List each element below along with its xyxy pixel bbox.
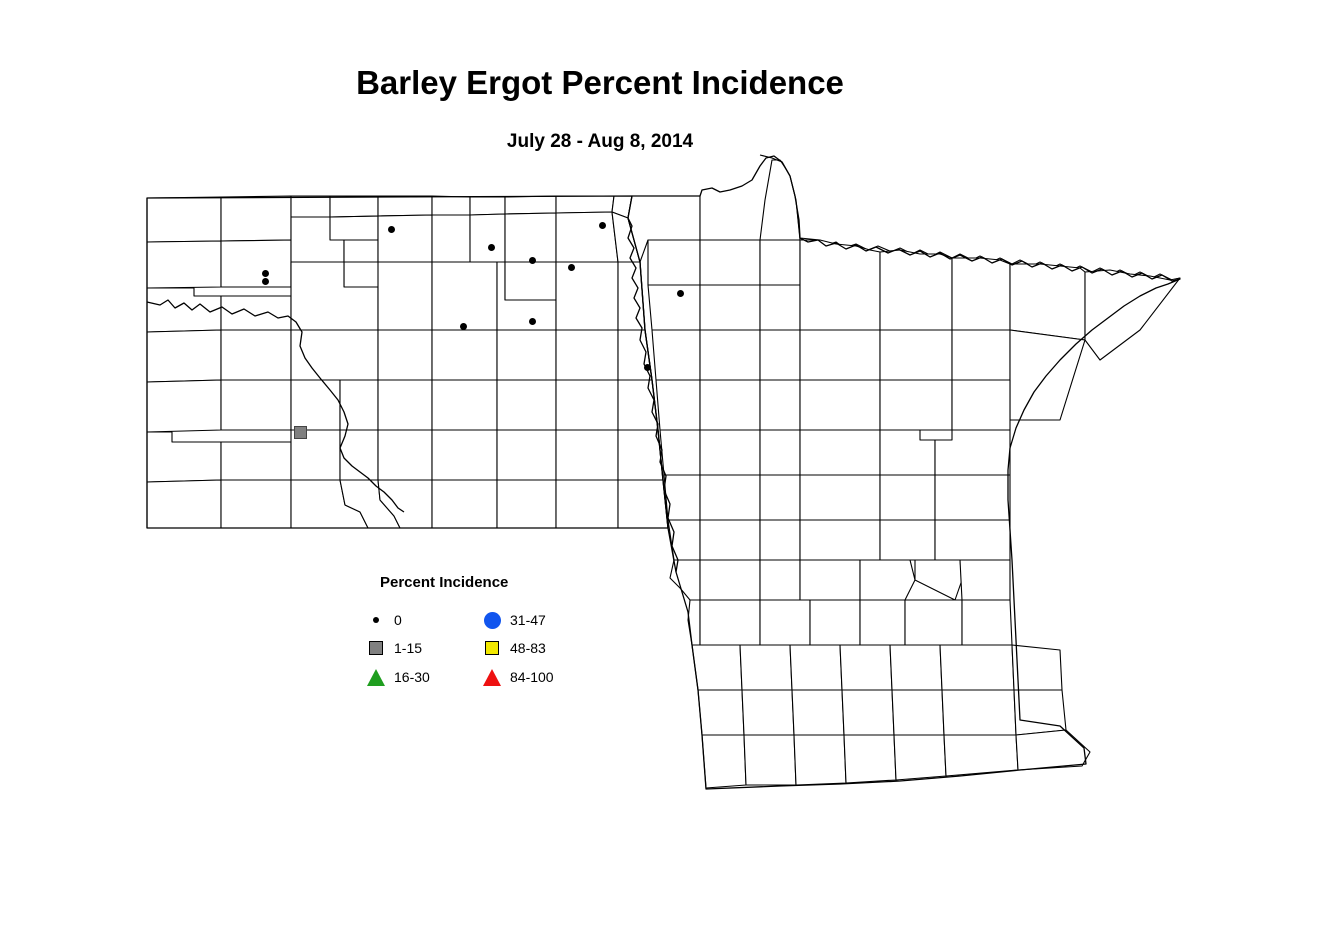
gray-square-icon (366, 638, 388, 658)
legend-item-label: 0 (394, 612, 402, 628)
map-svg (0, 0, 1341, 926)
data-point-marker[interactable] (262, 270, 269, 277)
data-point-marker[interactable] (488, 244, 495, 251)
yellow-square-icon (482, 638, 504, 658)
map-canvas (0, 0, 1341, 926)
minnesota-counties (628, 155, 1180, 788)
data-point-marker[interactable] (677, 290, 684, 297)
legend-item-label: 84-100 (510, 669, 554, 685)
data-point-marker[interactable] (294, 426, 307, 439)
dot-icon (366, 610, 388, 630)
legend-item-label: 16-30 (394, 669, 430, 685)
blue-circle-icon (482, 610, 504, 630)
legend-item-label: 1-15 (394, 640, 422, 656)
data-point-marker[interactable] (529, 257, 536, 264)
north-dakota-counties (147, 196, 668, 528)
legend: Percent Incidence 0 1-15 16-30 31-47 48-… (360, 568, 592, 693)
green-triangle-icon (366, 667, 388, 687)
legend-title: Percent Incidence (380, 574, 508, 591)
data-point-marker[interactable] (568, 264, 575, 271)
data-point-marker[interactable] (644, 364, 651, 371)
legend-item-label: 48-83 (510, 640, 546, 656)
data-point-marker[interactable] (599, 222, 606, 229)
data-point-marker[interactable] (460, 323, 467, 330)
data-point-marker[interactable] (262, 278, 269, 285)
legend-item-label: 31-47 (510, 612, 546, 628)
data-point-marker[interactable] (388, 226, 395, 233)
red-triangle-icon (482, 667, 504, 687)
data-point-marker[interactable] (529, 318, 536, 325)
map-page: Barley Ergot Percent Incidence July 28 -… (0, 0, 1341, 926)
